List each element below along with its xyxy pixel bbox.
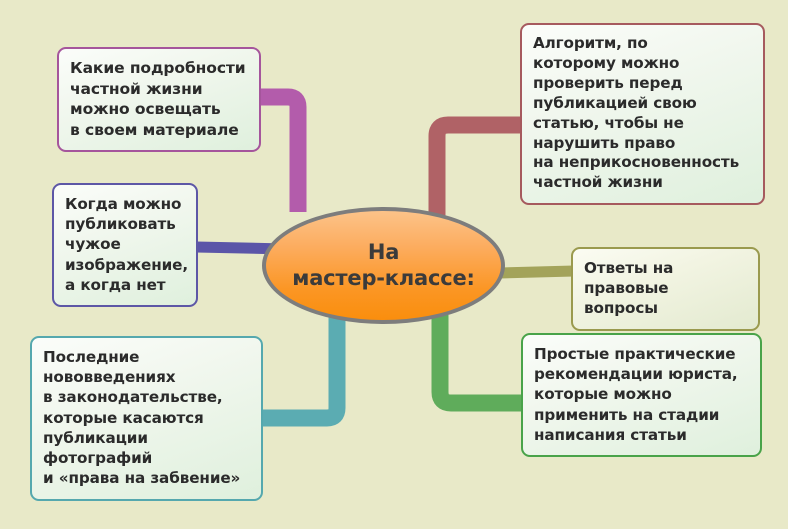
connector-algorithm-check — [437, 125, 523, 216]
node-algorithm-check[interactable]: Алгоритм, по которому можно проверить пе… — [520, 23, 765, 205]
center-node-label: На мастер-классе: — [292, 240, 475, 291]
node-practical-recommendations[interactable]: Простые практические рекомендации юриста… — [521, 333, 762, 457]
connector-legal-answers — [500, 271, 574, 273]
mindmap-canvas: Какие подробности частной жизни можно ос… — [0, 0, 788, 529]
connector-private-life-details — [258, 97, 298, 212]
node-private-life-details[interactable]: Какие подробности частной жизни можно ос… — [57, 47, 261, 152]
connector-legislation-novelties — [259, 312, 337, 418]
node-legal-answers[interactable]: Ответы на правовые вопросы — [571, 247, 760, 331]
center-node[interactable]: На мастер-классе: — [262, 207, 505, 324]
node-foreign-image[interactable]: Когда можно публиковать чужое изображени… — [52, 183, 198, 307]
node-legislation-novelties[interactable]: Последние нововведениях в законодательст… — [30, 336, 263, 501]
connector-practical-recommendations — [440, 315, 524, 403]
